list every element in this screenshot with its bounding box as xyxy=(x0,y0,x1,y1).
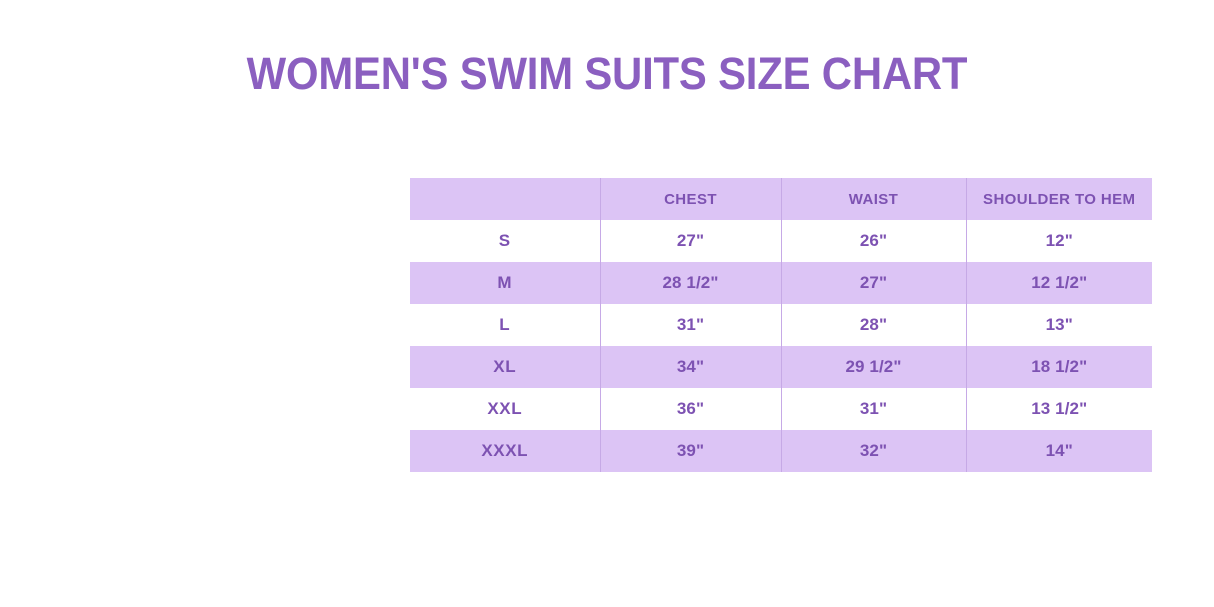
table-row: L31"28"13" xyxy=(410,304,1152,346)
size-table-container: CHEST WAIST SHOULDER TO HEM S27"26"12"M2… xyxy=(410,178,1152,475)
cell-shoulder-to-hem: 14" xyxy=(966,430,1152,472)
page-title: WOMEN'S SWIM SUITS SIZE CHART xyxy=(42,48,1171,100)
column-header-size xyxy=(410,178,600,220)
cell-size: XL xyxy=(410,346,600,388)
column-header-shoulder-to-hem: SHOULDER TO HEM xyxy=(966,178,1152,220)
cell-chest: 27" xyxy=(600,220,781,262)
cell-shoulder-to-hem: 13" xyxy=(966,304,1152,346)
column-header-waist: WAIST xyxy=(781,178,966,220)
cell-shoulder-to-hem: 12 1/2" xyxy=(966,262,1152,304)
column-header-chest: CHEST xyxy=(600,178,781,220)
cell-size: M xyxy=(410,262,600,304)
table-header-row: CHEST WAIST SHOULDER TO HEM xyxy=(410,178,1152,220)
cell-shoulder-to-hem: 12" xyxy=(966,220,1152,262)
cell-size: XXL xyxy=(410,388,600,430)
cell-waist: 27" xyxy=(781,262,966,304)
cell-chest: 34" xyxy=(600,346,781,388)
cell-chest: 31" xyxy=(600,304,781,346)
table-row: M28 1/2"27"12 1/2" xyxy=(410,262,1152,304)
cell-chest: 36" xyxy=(600,388,781,430)
table-row: XXL36"31"13 1/2" xyxy=(410,388,1152,430)
table-body: S27"26"12"M28 1/2"27"12 1/2"L31"28"13"XL… xyxy=(410,220,1152,472)
cell-waist: 26" xyxy=(781,220,966,262)
cell-waist: 31" xyxy=(781,388,966,430)
table-header: CHEST WAIST SHOULDER TO HEM xyxy=(410,178,1152,220)
cell-size: S xyxy=(410,220,600,262)
table-row: S27"26"12" xyxy=(410,220,1152,262)
cell-chest: 39" xyxy=(600,430,781,472)
cell-waist: 28" xyxy=(781,304,966,346)
cell-chest: 28 1/2" xyxy=(600,262,781,304)
cell-waist: 32" xyxy=(781,430,966,472)
size-chart-page: WOMEN'S SWIM SUITS SIZE CHART CHEST WAIS… xyxy=(0,0,1214,607)
cell-shoulder-to-hem: 13 1/2" xyxy=(966,388,1152,430)
table-row: XXXL39"32"14" xyxy=(410,430,1152,472)
size-chart-table: CHEST WAIST SHOULDER TO HEM S27"26"12"M2… xyxy=(410,178,1152,472)
cell-size: XXXL xyxy=(410,430,600,472)
cell-waist: 29 1/2" xyxy=(781,346,966,388)
cell-shoulder-to-hem: 18 1/2" xyxy=(966,346,1152,388)
cell-size: L xyxy=(410,304,600,346)
table-row: XL34"29 1/2"18 1/2" xyxy=(410,346,1152,388)
